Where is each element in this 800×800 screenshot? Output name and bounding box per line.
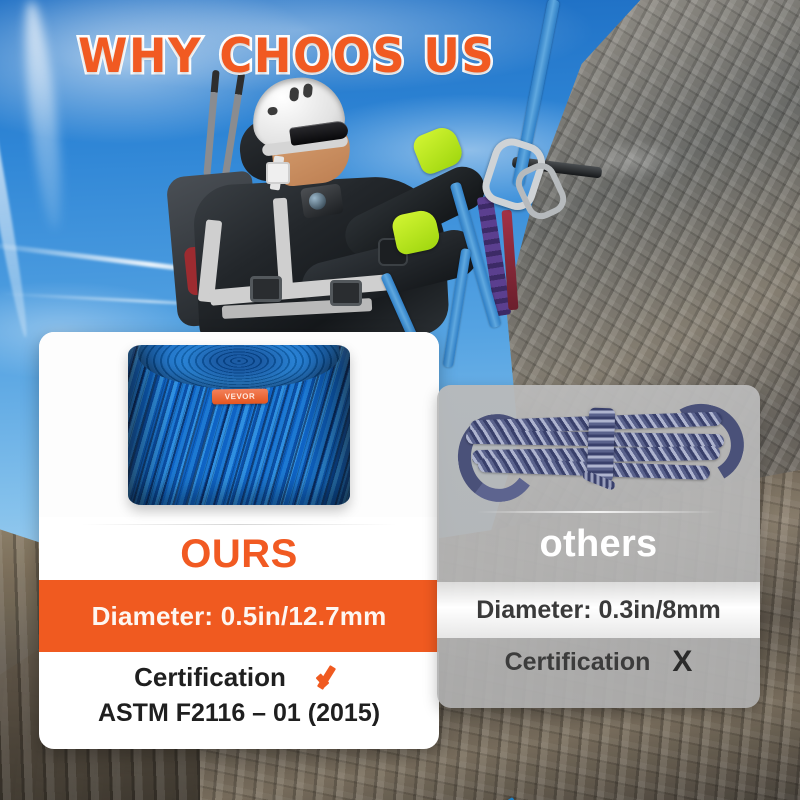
ours-label: OURS — [39, 532, 439, 577]
ours-certification-block: Certification ASTM F2116 – 01 (2015) — [39, 662, 439, 728]
others-label: others — [437, 523, 760, 566]
others-certification-block: Certification X — [437, 647, 760, 677]
gray-rope-coil-icon — [464, 402, 734, 488]
ours-diameter-band: Diameter: 0.5in/12.7mm — [39, 580, 439, 652]
others-certification-label: Certification — [505, 648, 651, 677]
page-title: WHY CHOOS US — [78, 33, 495, 80]
promo-banner: WHY CHOOS US VEVOR OURS Diameter: 0.5in/… — [0, 0, 800, 800]
vevor-brand-tag: VEVOR — [212, 388, 268, 404]
ours-diameter-text: Diameter: 0.5in/12.7mm — [92, 601, 387, 632]
check-icon — [314, 663, 344, 693]
blue-rope-coil-icon: VEVOR — [128, 345, 350, 505]
others-diameter-band: Diameter: 0.3in/8mm — [437, 582, 760, 638]
ours-certification-label: Certification — [134, 662, 286, 693]
harness-buckle — [330, 280, 362, 306]
ours-comparison-card: VEVOR OURS Diameter: 0.5in/12.7mm Certif… — [39, 332, 439, 749]
others-comparison-card: others Diameter: 0.3in/8mm Certification… — [437, 385, 760, 708]
harness-buckle — [250, 276, 282, 302]
divider — [477, 511, 717, 513]
others-diameter-text: Diameter: 0.3in/8mm — [476, 596, 721, 625]
ours-certification-standard: ASTM F2116 – 01 (2015) — [39, 699, 439, 728]
helmet-buckle — [266, 162, 290, 184]
divider — [81, 524, 397, 525]
others-product-image — [437, 385, 760, 505]
ours-product-image: VEVOR — [39, 332, 439, 517]
x-mark-icon: X — [672, 647, 692, 677]
action-camera — [300, 183, 344, 218]
